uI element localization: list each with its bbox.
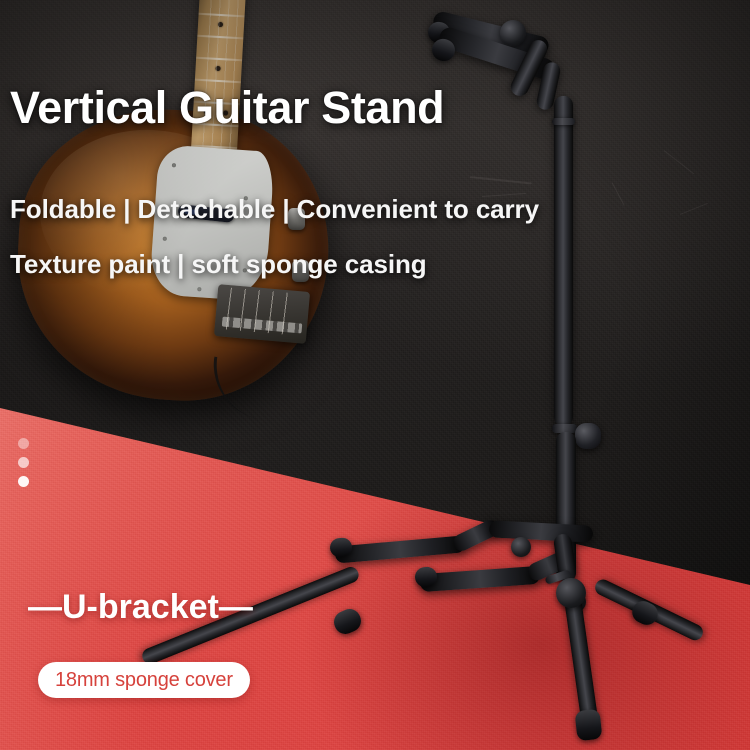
stand-leg-hub [556, 578, 586, 608]
product-banner: Vertical Guitar Stand Foldable | Detacha… [0, 0, 750, 750]
subtitle-materials: Texture paint | soft sponge casing [10, 249, 427, 280]
stand-leg-foot [330, 606, 364, 638]
u-bracket-upper-cross [489, 520, 594, 542]
subtitle-features: Foldable | Detachable | Convenient to ca… [10, 194, 539, 225]
stand-yoke-pivot [500, 20, 526, 46]
dot-icon [18, 476, 29, 487]
decorative-dots [18, 438, 29, 495]
stand-pole-collar [552, 118, 575, 125]
dot-icon [18, 457, 29, 468]
dot-icon [18, 438, 29, 449]
spec-badge-label: 18mm sponge cover [55, 669, 233, 692]
page-title: Vertical Guitar Stand [10, 82, 444, 134]
feature-label: —U-bracket— [28, 588, 253, 627]
stand-upper-pole [554, 96, 573, 426]
u-bracket-lower-arm [420, 566, 541, 592]
stand-height-adjust-knob[interactable] [575, 423, 601, 449]
spec-badge: 18mm sponge cover [38, 662, 250, 698]
u-bracket-hinge [511, 537, 531, 557]
u-bracket-upper-arm [335, 535, 466, 563]
stand-leg-foot-front [575, 709, 603, 741]
